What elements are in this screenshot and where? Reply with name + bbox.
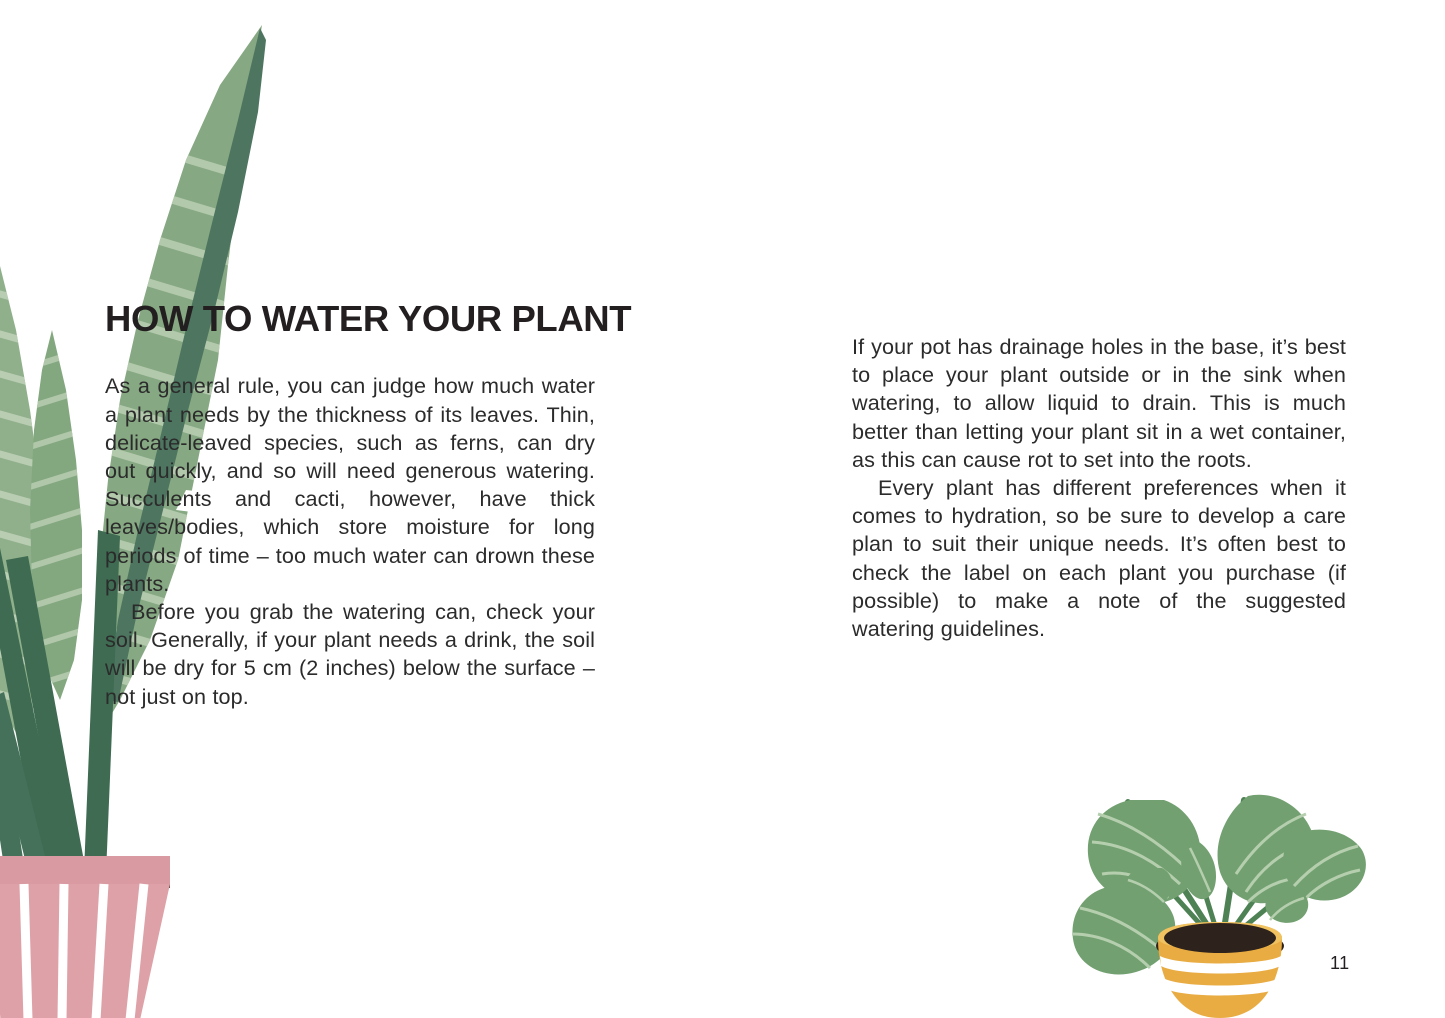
leaf-shape-left <box>0 190 50 748</box>
potted-houseplant-illustration <box>1068 742 1368 1018</box>
leaf-lower-left <box>1072 886 1175 975</box>
right-text-column: If your pot has drainage holes in the ba… <box>852 333 1346 643</box>
paragraph: Before you grab the watering can, check … <box>105 598 595 711</box>
paragraph: Every plant has different preferences wh… <box>852 474 1346 643</box>
yellow-pot <box>1158 922 1282 1018</box>
page-title: HOW TO WATER YOUR PLANT <box>105 300 595 338</box>
pink-striped-pot <box>0 856 170 1018</box>
plant-stems-right <box>1128 800 1298 944</box>
leaf-shape-middle <box>20 330 100 700</box>
leaf-upper-right <box>1218 795 1316 904</box>
left-text-column: HOW TO WATER YOUR PLANT As a general rul… <box>105 300 595 711</box>
leaf-upper-left <box>1088 800 1201 904</box>
leaf-center-small <box>1181 838 1216 899</box>
leaf-right-small <box>1265 888 1308 923</box>
plant-stems <box>0 530 120 880</box>
book-page: HOW TO WATER YOUR PLANT As a general rul… <box>0 0 1445 1018</box>
leaf-left-small <box>1122 868 1172 912</box>
paragraph: As a general rule, you can judge how muc… <box>105 372 595 598</box>
page-number: 11 <box>1330 953 1350 974</box>
paragraph: If your pot has drainage holes in the ba… <box>852 333 1346 474</box>
soil-right <box>1156 929 1284 963</box>
soil <box>0 866 170 888</box>
leaf-far-right <box>1283 830 1366 901</box>
